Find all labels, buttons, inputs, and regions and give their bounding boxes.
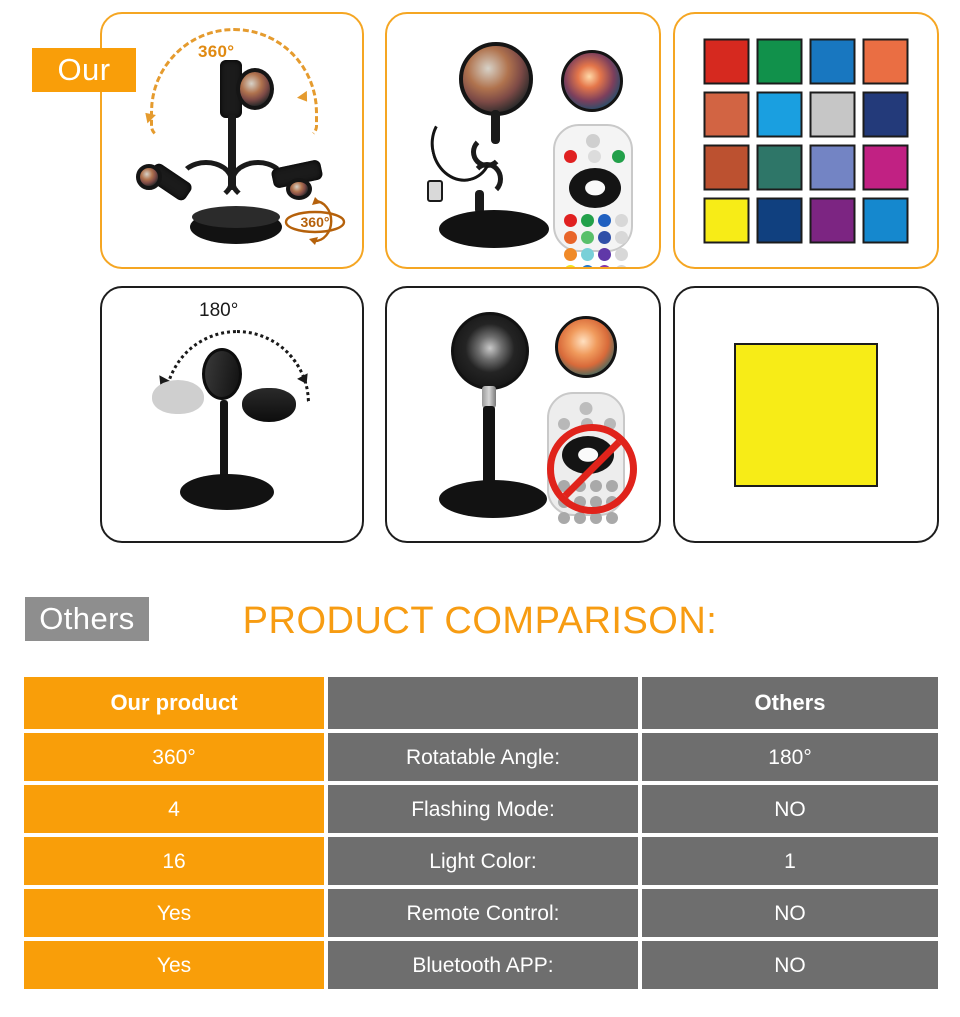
rotate-360-icon: 360° (282, 195, 348, 245)
lamp-head-ghost-icon (152, 380, 204, 414)
color-swatch (810, 144, 856, 190)
our-rotation-diagram: 360° (102, 14, 362, 267)
color-swatch (704, 144, 750, 190)
rotation-arc-label: 360° (198, 42, 234, 62)
cell-others-value: 180° (642, 733, 938, 781)
color-swatch (863, 91, 909, 137)
color-swatch (863, 144, 909, 190)
color-swatch (863, 197, 909, 243)
remote-key-white (588, 150, 601, 163)
cell-our-value: Yes (24, 941, 324, 989)
others-product-photo (387, 288, 659, 541)
others-color-swatch-panel (673, 286, 939, 543)
our-row-badge-label: Our (58, 52, 111, 88)
header-our-product: Our product (24, 677, 324, 729)
our-rotation-panel: 360° (100, 12, 364, 269)
cell-feature-label: Bluetooth APP: (328, 941, 638, 989)
table-header-row: Our product Others (24, 677, 938, 729)
our-remote-control-icon (553, 124, 633, 252)
remote-color-keys (564, 214, 628, 269)
our-light-effect-icon (561, 50, 623, 112)
cell-our-value: 16 (24, 837, 324, 885)
color-swatch (810, 197, 856, 243)
cell-others-value: 1 (642, 837, 938, 885)
table-row: 16 Light Color: 1 (24, 837, 938, 885)
remote-power-key (580, 402, 593, 415)
cell-our-value: 4 (24, 785, 324, 833)
color-swatch (704, 197, 750, 243)
our-product-photo (387, 14, 659, 267)
table-row: 4 Flashing Mode: NO (24, 785, 938, 833)
others-lamp-head-down-icon (242, 388, 296, 422)
others-rotation-diagram: 180° (102, 288, 362, 541)
others-row-badge-label: Others (39, 601, 134, 637)
cell-others-value: NO (642, 889, 938, 937)
color-swatch-grid (704, 38, 909, 243)
cell-feature-label: Flashing Mode: (328, 785, 638, 833)
usb-plug-icon (427, 180, 443, 202)
color-swatch (734, 343, 878, 487)
lamp-lens-left-icon (136, 164, 162, 190)
remote-key (558, 418, 570, 430)
header-feature (328, 677, 638, 729)
rotate-360-icon-label: 360° (301, 214, 330, 230)
others-product-panel-row: Others 180° (0, 286, 960, 551)
color-swatch (704, 91, 750, 137)
no-remote-prohibited-icon (547, 424, 637, 514)
color-swatch (810, 38, 856, 84)
cell-others-value: NO (642, 785, 938, 833)
others-product-photo-panel (385, 286, 661, 543)
remote-wheel-icon (569, 168, 621, 208)
product-comparison-infographic: Our 360° (0, 0, 960, 1017)
comparison-table: Our product Others 360° Rotatable Angle:… (24, 677, 938, 989)
our-row-badge: Our (32, 48, 136, 92)
cell-feature-label: Remote Control: (328, 889, 638, 937)
others-lamp-base-icon (439, 480, 547, 518)
our-lamp-base-icon (439, 210, 549, 248)
color-swatch (757, 197, 803, 243)
header-others: Others (642, 677, 938, 729)
others-lamp-joint-icon (482, 386, 496, 408)
table-row: Yes Remote Control: NO (24, 889, 938, 937)
color-swatch (757, 38, 803, 84)
color-swatch (757, 144, 803, 190)
our-product-photo-panel (385, 12, 661, 269)
lamp-base-top-icon (192, 206, 280, 228)
remote-key-red (564, 150, 577, 163)
remote-power-key (586, 134, 600, 148)
color-swatch (863, 38, 909, 84)
others-lamp-head-up-icon (202, 348, 242, 400)
rotation-arc-label: 180° (199, 300, 238, 322)
color-swatch (810, 91, 856, 137)
others-lamp-base-icon (180, 474, 274, 510)
our-lamp-head-icon (459, 42, 533, 116)
remote-key-green (612, 150, 625, 163)
cell-our-value: Yes (24, 889, 324, 937)
table-row: 360° Rotatable Angle: 180° (24, 733, 938, 781)
table-row: Yes Bluetooth APP: NO (24, 941, 938, 989)
others-lamp-pole-icon (220, 400, 228, 484)
cell-feature-label: Rotatable Angle: (328, 733, 638, 781)
color-swatch (757, 91, 803, 137)
others-row-badge: Others (25, 597, 149, 641)
others-lamp-pole-icon (483, 406, 495, 490)
our-color-swatches-panel (673, 12, 939, 269)
cell-our-value: 360° (24, 733, 324, 781)
others-lamp-head-icon (451, 312, 529, 390)
cell-others-value: NO (642, 941, 938, 989)
color-swatch (704, 38, 750, 84)
cell-feature-label: Light Color: (328, 837, 638, 885)
our-product-panel-row: Our 360° (0, 12, 960, 277)
others-rotation-panel: 180° (100, 286, 364, 543)
lamp-head-center-icon (236, 68, 274, 110)
others-light-effect-icon (555, 316, 617, 378)
